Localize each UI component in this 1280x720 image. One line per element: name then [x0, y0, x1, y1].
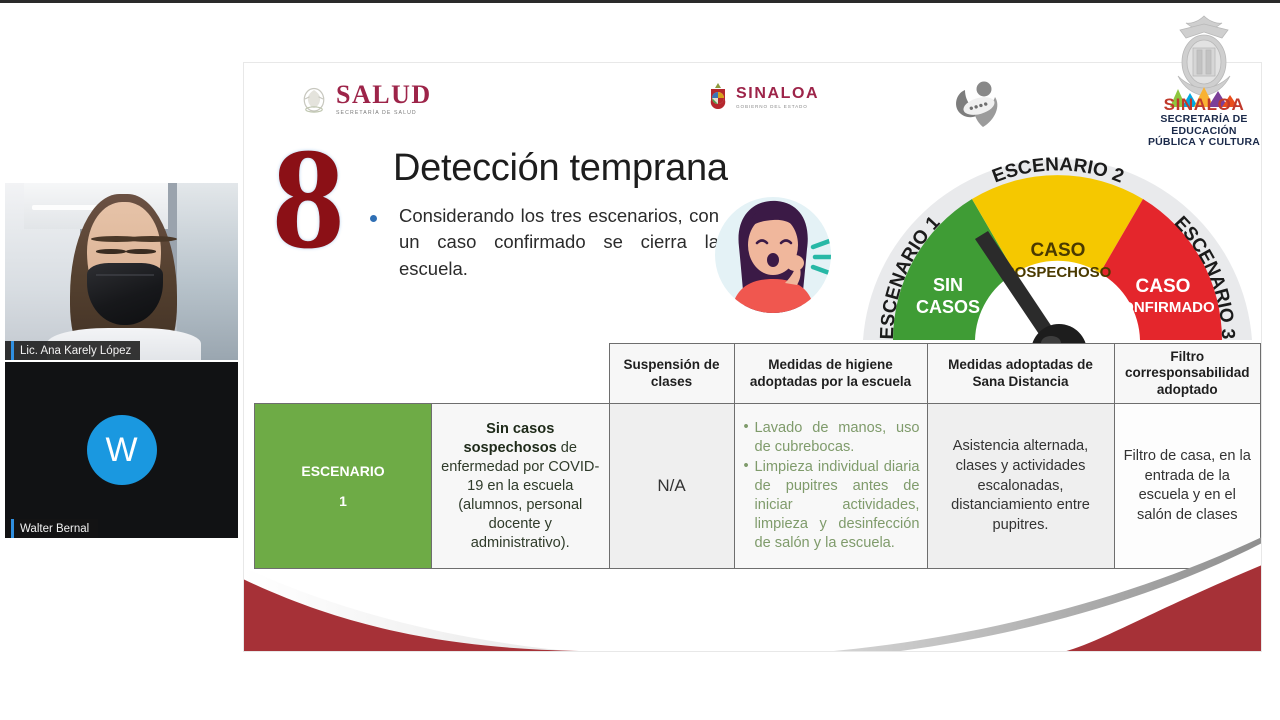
description-bold: Sin casos sospechosos — [463, 421, 556, 456]
slide-number: 8 — [272, 140, 345, 259]
sinaloa-shield-icon — [705, 82, 731, 112]
grey-figure-logo-icon — [951, 80, 1007, 130]
salud-title: SALUD — [336, 82, 432, 108]
gauge-label-yellow-bottom: SOSPECHOSO — [1005, 264, 1112, 281]
participant-name: Lic. Ana Karely López — [20, 345, 131, 357]
avatar: W — [87, 415, 157, 485]
audio-indicator-icon — [11, 519, 14, 538]
sepyc-logo: SINALOA SECRETARÍA DEEDUCACIÓNPÚBLICA Y … — [1145, 14, 1263, 149]
scenario-label: ESCENARIO — [262, 456, 424, 487]
salud-subtitle: SECRETARÍA DE SALUD — [336, 110, 432, 116]
participant-tile-avatar[interactable]: W Walter Bernal — [5, 362, 238, 538]
sinaloa-subtitle: GOBIERNO DEL ESTADO — [736, 104, 819, 109]
table-header-blank-2 — [432, 344, 610, 404]
slide-footer-decoration — [243, 537, 1262, 652]
sinaloa-gobierno-logo: SINALOA GOBIERNO DEL ESTADO — [705, 82, 819, 112]
webcam-feed — [5, 183, 238, 360]
gauge-label-green-top: SIN — [933, 275, 963, 295]
table-header-suspension: Suspensión de clases — [609, 344, 734, 404]
list-item: Lavado de manos, uso de cubrebocas. — [755, 419, 920, 457]
audio-indicator-icon — [11, 341, 14, 360]
description-rest: de enfermedad por COVID-19 en la escuela… — [441, 440, 599, 551]
slide-heading: Detección temprana — [393, 147, 728, 190]
sinaloa-title: SINALOA — [736, 86, 819, 102]
scenario-number: 1 — [262, 486, 424, 517]
higiene-list: Lavado de manos, uso de cubrebocas. Limp… — [742, 419, 920, 553]
avatar-initial: W — [105, 431, 137, 470]
gauge-label-red-top: CASO — [1136, 276, 1191, 297]
sepyc-subtitle: SECRETARÍA DEEDUCACIÓNPÚBLICA Y CULTURA — [1145, 114, 1263, 149]
shared-slide[interactable]: SALUD SECRETARÍA DE SALUD SINALOA GOBIER… — [243, 62, 1262, 652]
table-header-blank-1 — [255, 344, 432, 404]
number-dot-icon — [370, 215, 377, 222]
scenarios-table: Suspensión de clases Medidas de higiene … — [254, 343, 1261, 569]
top-strip — [0, 0, 1280, 3]
coughing-person-illustration — [711, 187, 849, 322]
salud-logo: SALUD SECRETARÍA DE SALUD — [299, 82, 432, 116]
person-eye-right — [126, 249, 156, 254]
table-header-sana-distancia: Medidas adoptadas de Sana Distancia — [927, 344, 1114, 404]
participant-name-bar: Lic. Ana Karely López — [5, 341, 140, 360]
table-header-higiene: Medidas de higiene adoptadas por la escu… — [734, 344, 927, 404]
participant-name-bar: Walter Bernal — [5, 519, 98, 538]
gauge-label-red-bottom: CONFIRMADO — [1111, 299, 1215, 316]
table-header-row: Suspensión de clases Medidas de higiene … — [255, 344, 1261, 404]
participant-tile-video[interactable]: Lic. Ana Karely López — [5, 183, 238, 360]
person-eye-left — [96, 249, 126, 254]
gauge-label-yellow-top: CASO — [1031, 240, 1086, 261]
slide-body-text: Considerando los tres escenarios, con un… — [399, 203, 719, 282]
gauge-label-green-bottom: CASOS — [916, 297, 980, 317]
participant-name: Walter Bernal — [20, 523, 89, 535]
sepyc-title: SINALOA — [1145, 96, 1263, 113]
mexican-eagle-icon — [299, 84, 329, 114]
table-header-filtro: Filtro corresponsabilidad adoptado — [1114, 344, 1261, 404]
